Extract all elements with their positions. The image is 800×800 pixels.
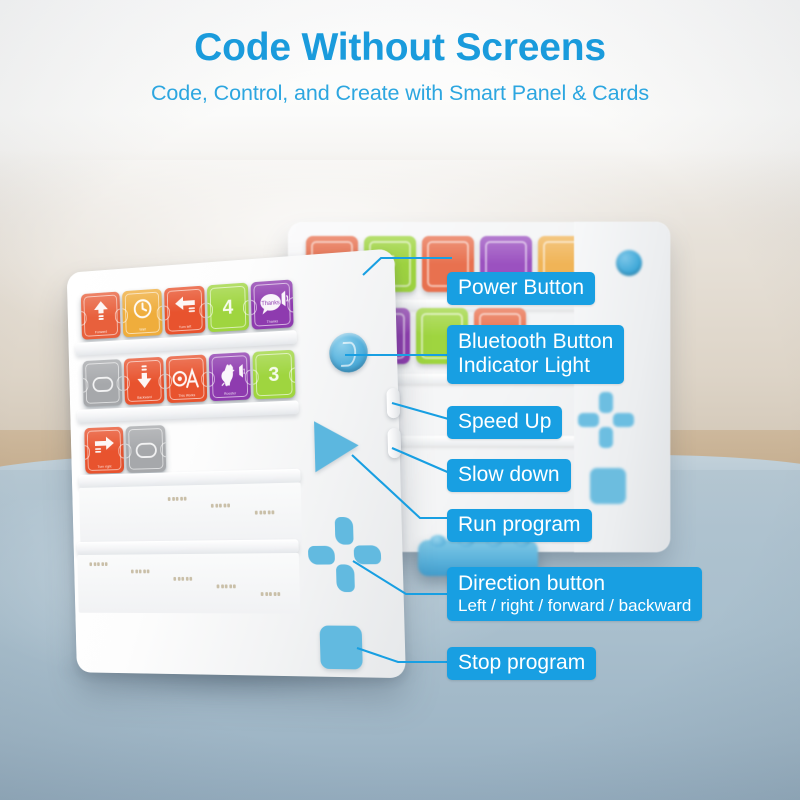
side-edge-buttons bbox=[384, 388, 409, 509]
slot-contacts bbox=[131, 569, 149, 573]
slow-down-button[interactable] bbox=[387, 428, 401, 458]
card-number-3[interactable]: 3 bbox=[252, 350, 295, 400]
slot-contacts bbox=[211, 503, 230, 507]
clock-icon bbox=[122, 295, 162, 322]
arrow-up-icon bbox=[81, 298, 120, 325]
dpad-left-button[interactable] bbox=[308, 546, 335, 565]
slot-contacts bbox=[255, 510, 275, 514]
bluetooth-indicator-button[interactable] bbox=[329, 332, 368, 374]
arrow-left-icon bbox=[164, 292, 205, 319]
callout-run-program[interactable]: Run program bbox=[447, 509, 592, 542]
page-title: Code Without Screens bbox=[0, 28, 800, 69]
card-this-works[interactable]: This Works bbox=[166, 354, 207, 403]
back-direction-dpad-icon[interactable] bbox=[578, 392, 634, 448]
callout-label-line2: Left / right / forward / backward bbox=[458, 596, 691, 616]
card-blank-1[interactable] bbox=[83, 359, 123, 407]
callout-label: Slow down bbox=[458, 463, 560, 487]
page-subtitle: Code, Control, and Create with Smart Pan… bbox=[0, 81, 800, 106]
card-forward[interactable]: Forward bbox=[81, 291, 121, 339]
blank-oval-icon bbox=[126, 437, 166, 463]
card-backward[interactable]: Backward bbox=[124, 357, 165, 405]
dpad-right-button[interactable] bbox=[354, 545, 382, 564]
slot-contacts bbox=[261, 592, 281, 596]
callout-label: Speed Up bbox=[458, 410, 551, 434]
callout-label: Bluetooth Button bbox=[458, 330, 613, 354]
card-blank-2[interactable] bbox=[126, 425, 167, 473]
callout-label: Run program bbox=[458, 513, 581, 537]
callout-label: Power Button bbox=[458, 276, 584, 300]
slot-contacts bbox=[217, 584, 236, 588]
slot-contacts bbox=[168, 497, 187, 501]
arrow-down-icon bbox=[124, 363, 164, 390]
card-thanks[interactable]: Thanks Thanks bbox=[251, 279, 294, 329]
svg-text:Thanks: Thanks bbox=[261, 300, 280, 307]
callout-power-button[interactable]: Power Button bbox=[447, 272, 595, 305]
letter-a-icon bbox=[166, 365, 207, 392]
callout-label-line2: Indicator Light bbox=[458, 354, 613, 378]
stop-program-button[interactable] bbox=[320, 626, 363, 670]
dpad-forward-button[interactable] bbox=[335, 517, 354, 545]
back-stop-program-button[interactable] bbox=[590, 468, 626, 504]
speed-up-button[interactable] bbox=[386, 388, 400, 418]
callout-bluetooth-button[interactable]: Bluetooth Button Indicator Light bbox=[447, 325, 624, 384]
card-value: 4 bbox=[207, 283, 249, 333]
callout-label: Stop program bbox=[458, 651, 585, 675]
blank-oval-icon bbox=[83, 371, 122, 397]
product-infographic: Code Without Screens Code, Control, and … bbox=[0, 0, 800, 800]
callout-stop-program[interactable]: Stop program bbox=[447, 647, 596, 680]
slot-contacts bbox=[89, 562, 107, 566]
empty-card-slot-2[interactable] bbox=[77, 553, 300, 614]
callout-speed-up[interactable]: Speed Up bbox=[447, 406, 562, 439]
arrow-right-icon bbox=[84, 433, 123, 459]
card-rooster[interactable]: Rooster bbox=[209, 352, 251, 401]
card-turn-left[interactable]: Turn left bbox=[164, 286, 205, 335]
callout-slow-down[interactable]: Slow down bbox=[447, 459, 571, 492]
speech-bubble-icon: Thanks bbox=[251, 288, 293, 316]
card-turn-right[interactable]: Turn right bbox=[84, 427, 124, 474]
card-number-4[interactable]: 4 bbox=[207, 283, 249, 333]
rooster-icon bbox=[209, 361, 251, 388]
dpad-backward-button[interactable] bbox=[336, 564, 355, 592]
run-program-button[interactable] bbox=[314, 420, 359, 473]
front-panel-control-column bbox=[289, 259, 402, 668]
power-button-indicator[interactable] bbox=[616, 250, 642, 276]
header: Code Without Screens Code, Control, and … bbox=[0, 28, 800, 106]
card-wait[interactable]: Wait bbox=[122, 289, 163, 338]
direction-dpad[interactable] bbox=[307, 516, 382, 592]
slot-contacts bbox=[173, 577, 192, 581]
callout-direction-button[interactable]: Direction button Left / right / forward … bbox=[447, 567, 702, 621]
card-value: 3 bbox=[252, 350, 295, 400]
front-smart-panel: Forward Wait Turn bbox=[67, 248, 406, 678]
callout-label: Direction button bbox=[458, 572, 691, 596]
